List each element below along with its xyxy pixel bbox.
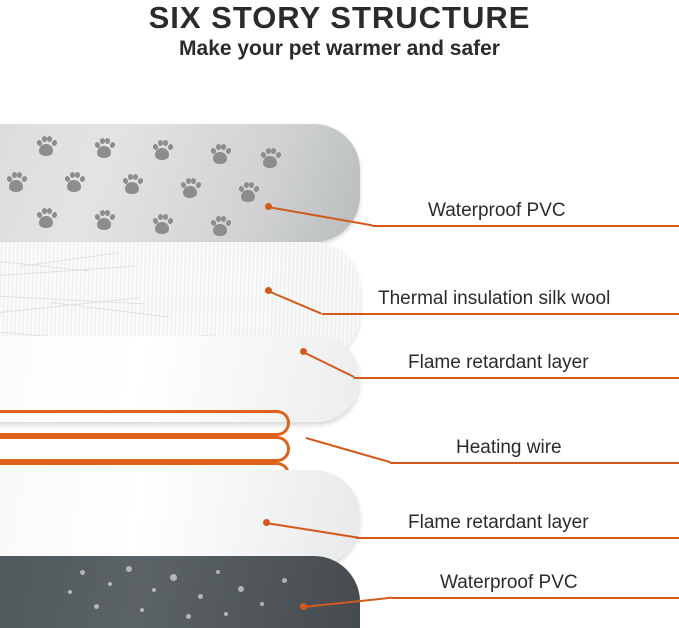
layer-flame-retardant-lower (0, 470, 360, 566)
callout-label-flame-retardant-lower: Flame retardant layer (408, 512, 589, 534)
heating-wire-segment (0, 436, 290, 462)
callout-underline-waterproof-pvc-top (372, 225, 679, 227)
callout-label-waterproof-pvc-bottom: Waterproof PVC (440, 572, 578, 594)
paw-print-pattern (0, 124, 360, 242)
callout-underline-flame-retardant-upper (354, 377, 679, 379)
callout-underline-thermal-insulation (322, 313, 679, 315)
layer-waterproof-pvc-bottom (0, 556, 360, 628)
callout-label-waterproof-pvc-top: Waterproof PVC (428, 200, 566, 222)
callout-underline-flame-retardant-lower (356, 537, 679, 539)
layer-waterproof-pvc-top (0, 124, 360, 242)
callout-underline-heating-wire (390, 462, 679, 464)
callout-underline-waterproof-pvc-bottom (392, 597, 679, 599)
callout-label-flame-retardant-upper: Flame retardant layer (408, 352, 589, 374)
pet-heating-pad-structure-diagram: SIX STORY STRUCTURE Make your pet warmer… (0, 0, 679, 628)
callout-label-thermal-insulation: Thermal insulation silk wool (378, 288, 610, 310)
callout-label-heating-wire: Heating wire (456, 437, 562, 459)
heating-wire-segment (0, 410, 290, 436)
water-droplet-pattern (0, 556, 360, 628)
page-title: SIX STORY STRUCTURE (0, 0, 679, 36)
page-subtitle: Make your pet warmer and safer (0, 37, 679, 61)
